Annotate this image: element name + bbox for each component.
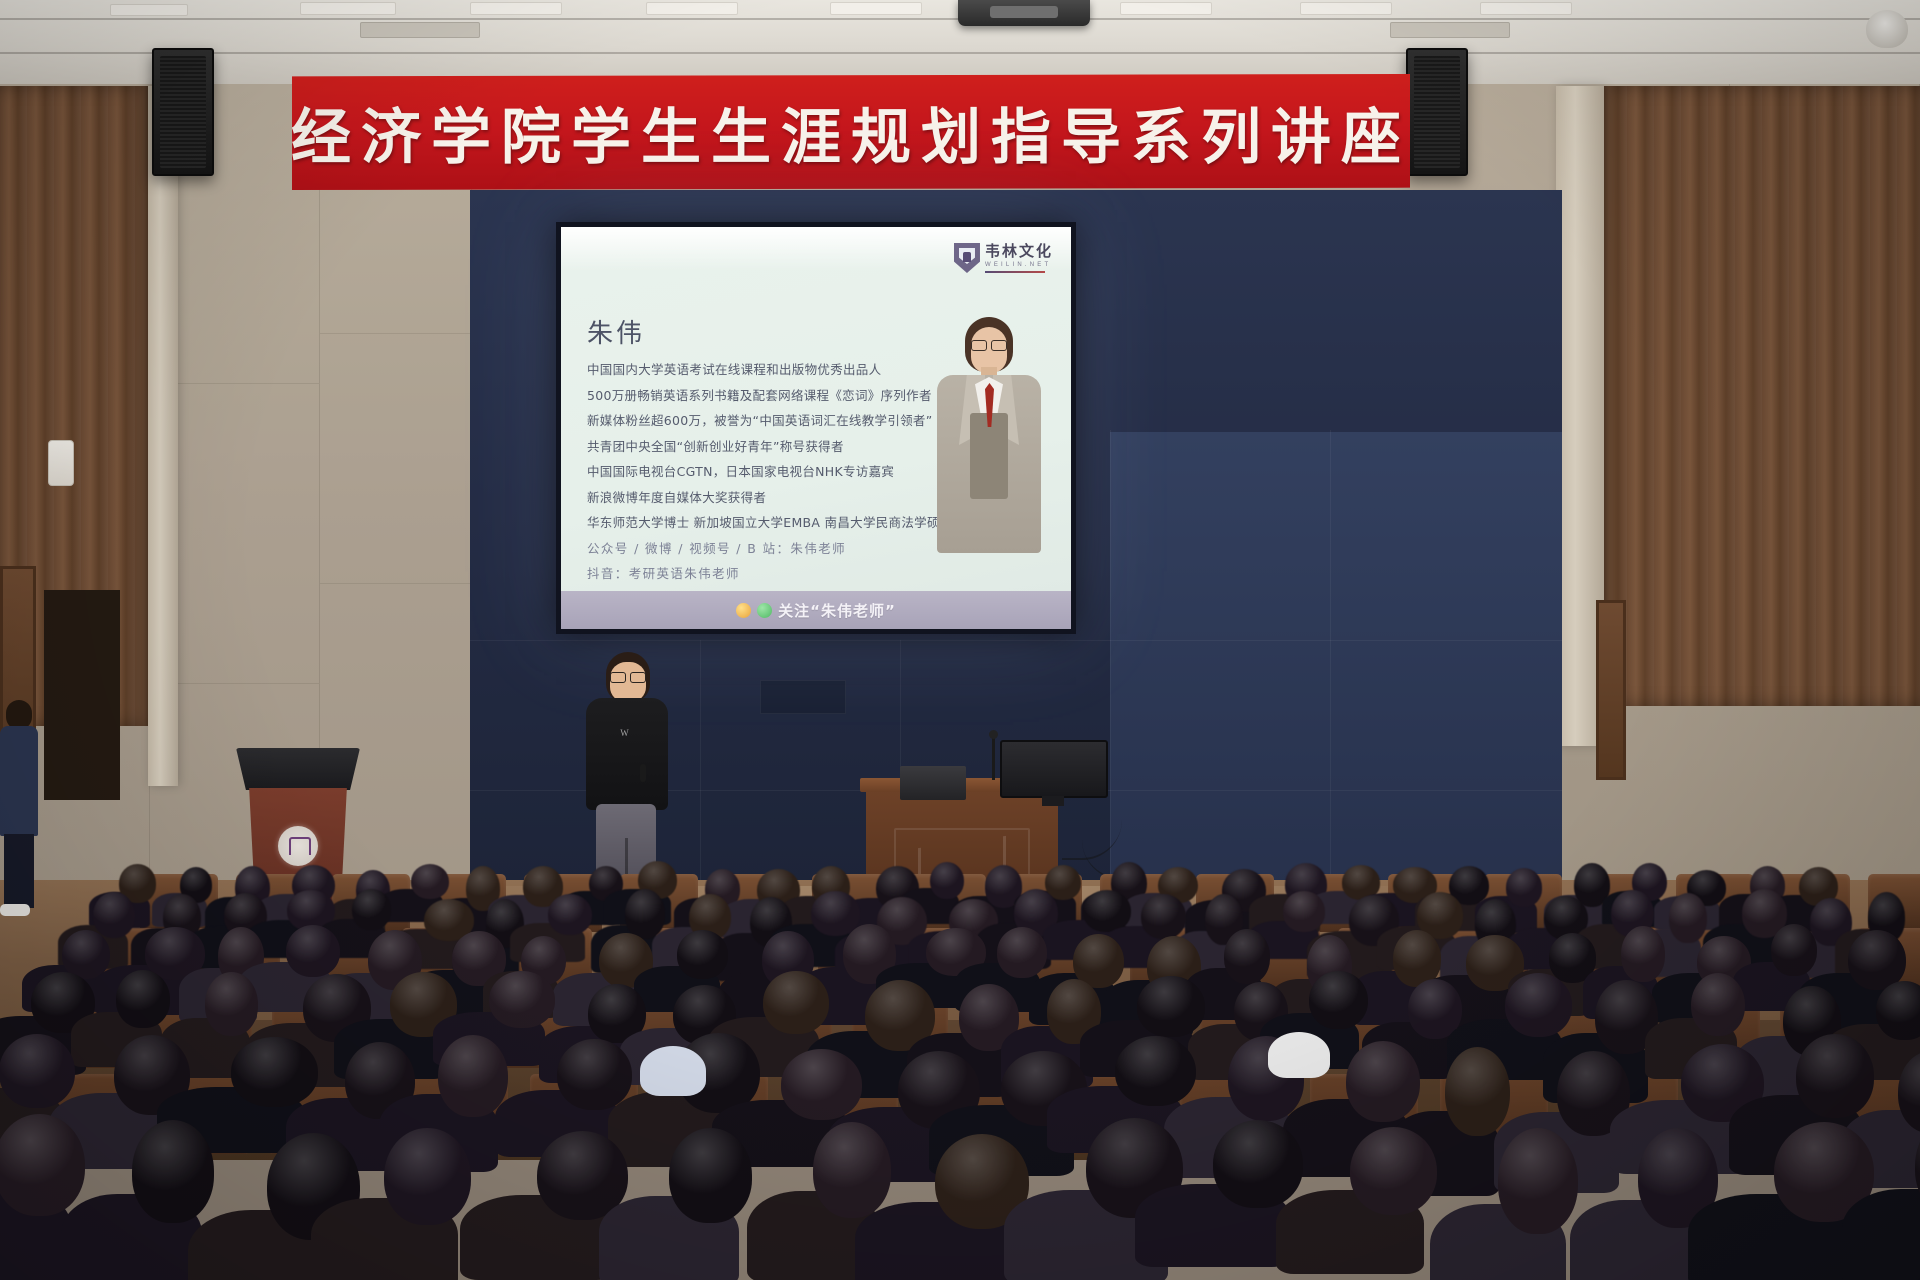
air-vent [360,22,480,38]
ceiling-panel [1300,2,1392,15]
ceiling-panel [1480,2,1572,15]
ceiling-projector [958,0,1090,26]
glasses-icon [610,672,646,681]
bio-line: 500万册畅销英语系列书籍及配套网络课程《恋词》序列作者 [587,390,917,403]
brand-logo: 韦林文化 WEILIN.NET [954,243,1053,273]
right-speaker-box [1406,48,1468,176]
audience-member-head [1309,971,1367,1030]
monitor-stand [1042,796,1064,806]
audience-member-head [1083,890,1130,932]
follow-text: 关注“朱伟老师” [778,600,896,621]
audience-member-head [231,1037,318,1107]
stage-back-wall-right [1110,432,1562,890]
dome-camera-icon [1866,10,1908,48]
audience-member-head [1346,1041,1420,1123]
contact-line: 抖音：考研英语朱伟老师 [587,568,917,581]
seated-audience [0,856,1920,1280]
audience-member-head [997,927,1047,978]
sweater-graphic: W [604,728,646,754]
speaker-name: 朱伟 [587,313,917,350]
monitor [1000,740,1108,798]
bio-line: 新媒体粉丝超600万，被誉为“中国英语词汇在线教学引领者” [587,415,917,428]
audience-member-head [205,972,258,1036]
audience-member-head [0,1034,75,1108]
audience-member-head [1876,981,1920,1040]
audience-member-cap [640,1046,706,1096]
audience-member-head [1621,926,1665,982]
audience-member-head [930,862,964,899]
slide-surface: 韦林文化 WEILIN.NET 朱伟 中国国内大学英语考试在线课程和出版物优秀出… [561,227,1071,629]
audience-member-head [286,925,341,978]
audience-member-head [1505,973,1573,1037]
speaker-portrait [937,317,1041,553]
audience-member-head [1137,976,1204,1037]
audience-member-head [1283,891,1324,932]
left-speaker-box [152,48,214,176]
wall-pillar [148,86,178,786]
right-wood-panel [1600,86,1920,706]
audience-member-head [132,1120,215,1223]
shield-crest-icon [954,243,980,273]
audience-member-head [781,1049,862,1119]
wall-seam [1330,430,1331,890]
handheld-microphone [640,764,646,782]
weibo-icon [736,603,751,618]
audience-member-head [813,1122,891,1218]
wechat-icon [757,603,772,618]
ceiling-panel [1120,2,1212,15]
bio-line: 华东师范大学博士 新加坡国立大学EMBA 南昌大学民商法学硕士 [587,517,917,530]
audience-member-head [1213,1120,1304,1208]
ceiling-panel [830,2,922,15]
audience-member-head [352,889,392,931]
audience-member-head [1350,1127,1437,1215]
wall-seam [470,640,1562,641]
bio-line: 新浪微博年度自媒体大奖获得者 [587,492,917,505]
audience-member-head [1224,929,1270,984]
audience-member-head [763,971,828,1034]
audience-member-head [1691,973,1745,1037]
audience-member-head [1771,924,1817,976]
ceiling-panel [646,2,738,15]
desk-microphone [992,736,995,780]
audience-member-head [1498,1128,1578,1234]
left-doorway [44,590,120,800]
wall-speaker-small [48,440,74,486]
lecture-hall-photo: 经济学院学生生涯规划指导系列讲座 韦林文化 WEILIN.NET 朱伟 [0,0,1920,1280]
event-banner: 经济学院学生生涯规划指导系列讲座 [292,74,1410,190]
ceiling-seam [0,52,1920,54]
air-vent [1390,22,1510,38]
bio-line: 共青团中央全国“创新创业好青年”称号获得者 [587,441,917,454]
slide-text-block: 朱伟 中国国内大学英语考试在线课程和出版物优秀出品人 500万册畅销英语系列书籍… [587,313,917,594]
bio-line: 中国国际电视台CGTN，日本国家电视台NHK专访嘉宾 [587,466,917,479]
audience-member-head [384,1128,470,1225]
audience-member-head [1141,894,1186,939]
audience-member-head [1115,1036,1196,1107]
ceiling-panel [110,4,188,16]
ceiling-panel [470,2,562,15]
logo-cn-text: 韦林文化 [985,244,1053,259]
glasses-icon [971,340,1007,349]
slide-footer-bar: 关注“朱伟老师” [561,591,1071,629]
audience-member-head [0,1114,85,1216]
audience-member-head [489,971,555,1028]
audience-member-head [677,930,728,979]
ceiling-panel [300,2,396,15]
logo-en-text: WEILIN.NET [985,262,1053,268]
audience-member-cap [1268,1032,1330,1078]
audience-member-head [669,1128,751,1223]
audience-member-head [1506,868,1542,906]
banner-title: 经济学院学生生涯规划指导系列讲座 [291,89,1411,176]
bio-line: 中国国内大学英语考试在线课程和出版物优秀出品人 [587,364,917,377]
audience-member-head [1445,1047,1510,1137]
right-door [1596,600,1626,780]
contact-line: 公众号 / 微博 / 视频号 / B 站：朱伟老师 [587,543,917,556]
projection-screen: 韦林文化 WEILIN.NET 朱伟 中国国内大学英语考试在线课程和出版物优秀出… [556,222,1076,634]
laptop [900,766,966,800]
audience-member-head [411,864,449,899]
wall-vent-panel [760,680,846,714]
logo-rule [985,271,1045,273]
audience-member-head [548,894,592,935]
audience-member-head [1796,1034,1875,1118]
audience-member-head [116,970,170,1028]
audience-member-head [438,1035,508,1117]
audience-member-head [1669,893,1707,943]
audience-member-head [93,892,135,939]
audience-member-head [557,1039,631,1110]
wall-seam [700,640,701,890]
